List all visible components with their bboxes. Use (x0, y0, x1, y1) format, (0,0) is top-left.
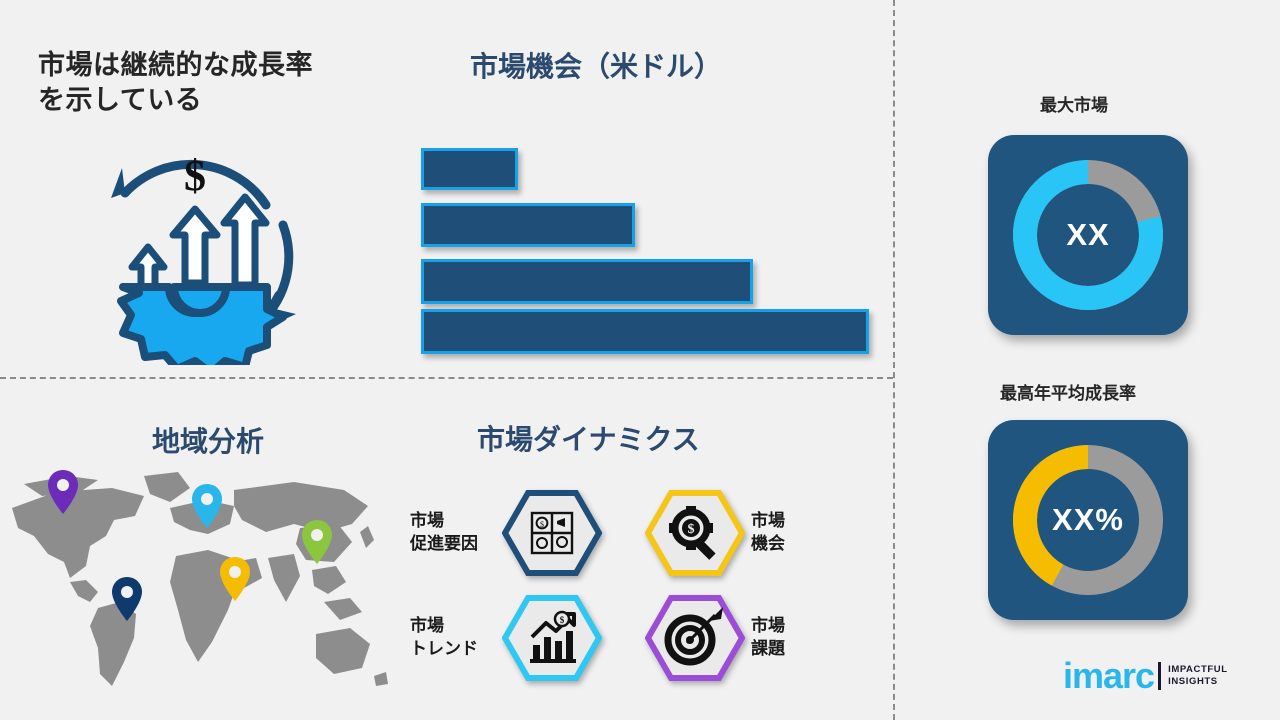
pin-middle-east (218, 555, 252, 608)
largest-market-value: XX (988, 217, 1188, 253)
hexagon-opportunities: $ (645, 490, 745, 576)
svg-text:$: $ (560, 615, 565, 625)
dynamics-item-drivers[interactable]: 市場 促進要因 $ (410, 490, 602, 576)
dynamics-item-challenges[interactable]: 市場 課題 (645, 595, 785, 681)
highest-cagr-value: XX% (988, 502, 1188, 538)
svg-text:$: $ (184, 151, 206, 200)
dynamics-label-trends: 市場 トレンド (410, 615, 496, 661)
growth-panel-title: 市場は継続的な成長率 を示している (38, 48, 388, 117)
dynamics-label-opportunities: 市場 機会 (751, 510, 785, 556)
logo-tagline-line1: IMPACTFUL (1168, 664, 1228, 675)
dynamics-label-challenges: 市場 課題 (751, 615, 785, 661)
highest-cagr-label: 最高年平均成長率 (1000, 383, 1136, 405)
logo-tagline-line2: INSIGHTS (1168, 676, 1218, 687)
largest-market-card: XX (988, 135, 1188, 335)
pin-north-america (46, 468, 80, 521)
opportunity-panel-title: 市場機会（米ドル） (470, 50, 722, 84)
slide-canvas: 市場は継続的な成長率 を示している $ 市場機会（米ドル） (0, 0, 1280, 720)
opportunity-bar-4 (421, 309, 869, 354)
pin-europe (190, 482, 224, 535)
dynamics-panel-title: 市場ダイナミクス (477, 423, 700, 457)
largest-market-label: 最大市場 (1040, 95, 1108, 117)
dynamics-item-opportunities[interactable]: $ 市場 機会 (645, 490, 785, 576)
logo-tagline: IMPACTFUL INSIGHTS (1168, 664, 1228, 688)
logo-divider (1158, 662, 1161, 690)
opportunity-bar-2 (421, 203, 635, 247)
hexagon-trends: $ (502, 595, 602, 681)
dynamics-item-trends[interactable]: 市場 トレンド $ (410, 595, 602, 681)
pin-south-america (110, 575, 144, 628)
logo-wordmark: imarc (1063, 658, 1154, 694)
opportunity-bar-1 (421, 148, 518, 190)
opportunity-bar-3 (421, 259, 753, 304)
hexagon-challenges (645, 595, 745, 681)
horizontal-dashed-divider (0, 377, 893, 379)
vertical-dashed-divider (893, 0, 895, 720)
svg-text:$: $ (688, 522, 695, 537)
hexagon-drivers: $ (502, 490, 602, 576)
svg-text:$: $ (540, 520, 544, 529)
pin-east-asia (300, 518, 334, 571)
growth-gear-dollar-icon: $ (78, 135, 313, 365)
highest-cagr-card: XX% (988, 420, 1188, 620)
dynamics-label-drivers: 市場 促進要因 (410, 510, 496, 556)
brand-logo: imarc IMPACTFUL INSIGHTS (1063, 658, 1228, 694)
regional-panel-title: 地域分析 (152, 425, 264, 459)
